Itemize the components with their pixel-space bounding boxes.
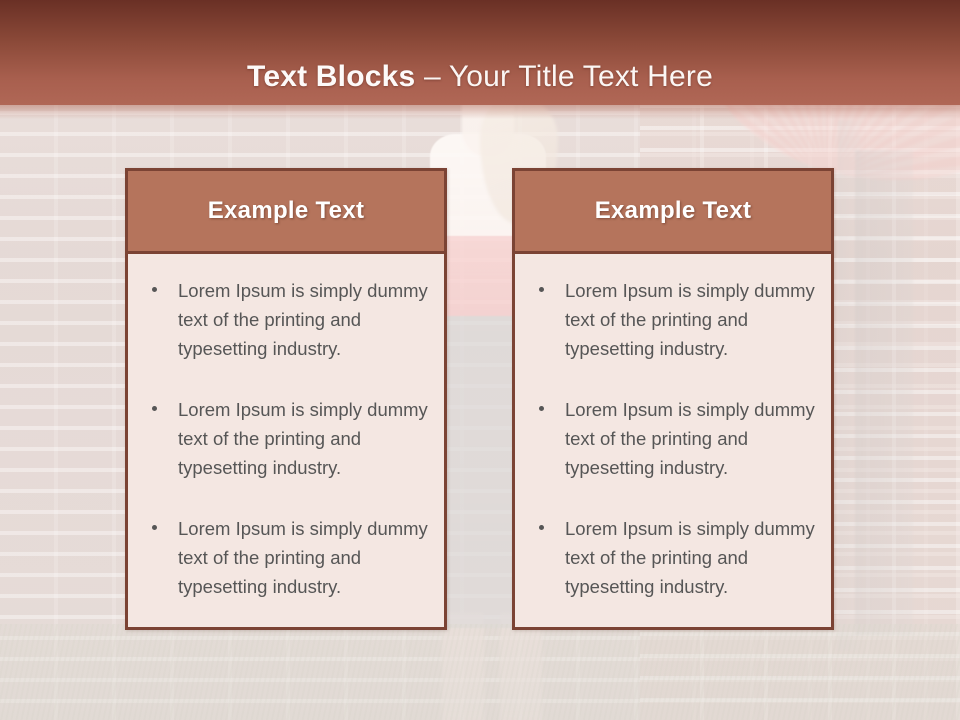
list-item-text: Lorem Ipsum is simply dummy text of the … — [178, 518, 428, 597]
bullet-dot-icon — [539, 406, 544, 411]
list-item: Lorem Ipsum is simply dummy text of the … — [525, 276, 815, 363]
text-block-card-left[interactable]: Example Text Lorem Ipsum is simply dummy… — [125, 168, 447, 630]
title-bar: Text Blocks – Your Title Text Here — [0, 0, 960, 105]
list-item: Lorem Ipsum is simply dummy text of the … — [138, 276, 428, 363]
list-item-text: Lorem Ipsum is simply dummy text of the … — [178, 280, 428, 359]
bullet-dot-icon — [152, 406, 157, 411]
page-title: Text Blocks – Your Title Text Here — [247, 59, 713, 95]
page-title-rest: – Your Title Text Here — [424, 60, 713, 93]
bullet-dot-icon — [539, 525, 544, 530]
card-right-header-label: Example Text — [595, 197, 752, 225]
list-item-text: Lorem Ipsum is simply dummy text of the … — [565, 399, 815, 478]
card-left-bullet-list: Lorem Ipsum is simply dummy text of the … — [138, 276, 428, 601]
card-right-body: Lorem Ipsum is simply dummy text of the … — [515, 254, 831, 627]
slide-canvas: Text Blocks – Your Title Text Here Examp… — [0, 0, 960, 720]
title-bar-fade — [0, 103, 960, 119]
list-item: Lorem Ipsum is simply dummy text of the … — [525, 514, 815, 601]
page-title-strong: Text Blocks — [247, 60, 424, 93]
list-item-text: Lorem Ipsum is simply dummy text of the … — [565, 280, 815, 359]
list-item: Lorem Ipsum is simply dummy text of the … — [138, 514, 428, 601]
card-left-header: Example Text — [128, 171, 444, 254]
list-item-text: Lorem Ipsum is simply dummy text of the … — [178, 399, 428, 478]
bullet-dot-icon — [539, 287, 544, 292]
card-right-bullet-list: Lorem Ipsum is simply dummy text of the … — [525, 276, 815, 601]
list-item: Lorem Ipsum is simply dummy text of the … — [525, 395, 815, 482]
bullet-dot-icon — [152, 287, 157, 292]
text-block-card-right[interactable]: Example Text Lorem Ipsum is simply dummy… — [512, 168, 834, 630]
card-right-header: Example Text — [515, 171, 831, 254]
card-left-body: Lorem Ipsum is simply dummy text of the … — [128, 254, 444, 627]
card-left-header-label: Example Text — [208, 197, 365, 225]
bullet-dot-icon — [152, 525, 157, 530]
list-item-text: Lorem Ipsum is simply dummy text of the … — [565, 518, 815, 597]
list-item: Lorem Ipsum is simply dummy text of the … — [138, 395, 428, 482]
